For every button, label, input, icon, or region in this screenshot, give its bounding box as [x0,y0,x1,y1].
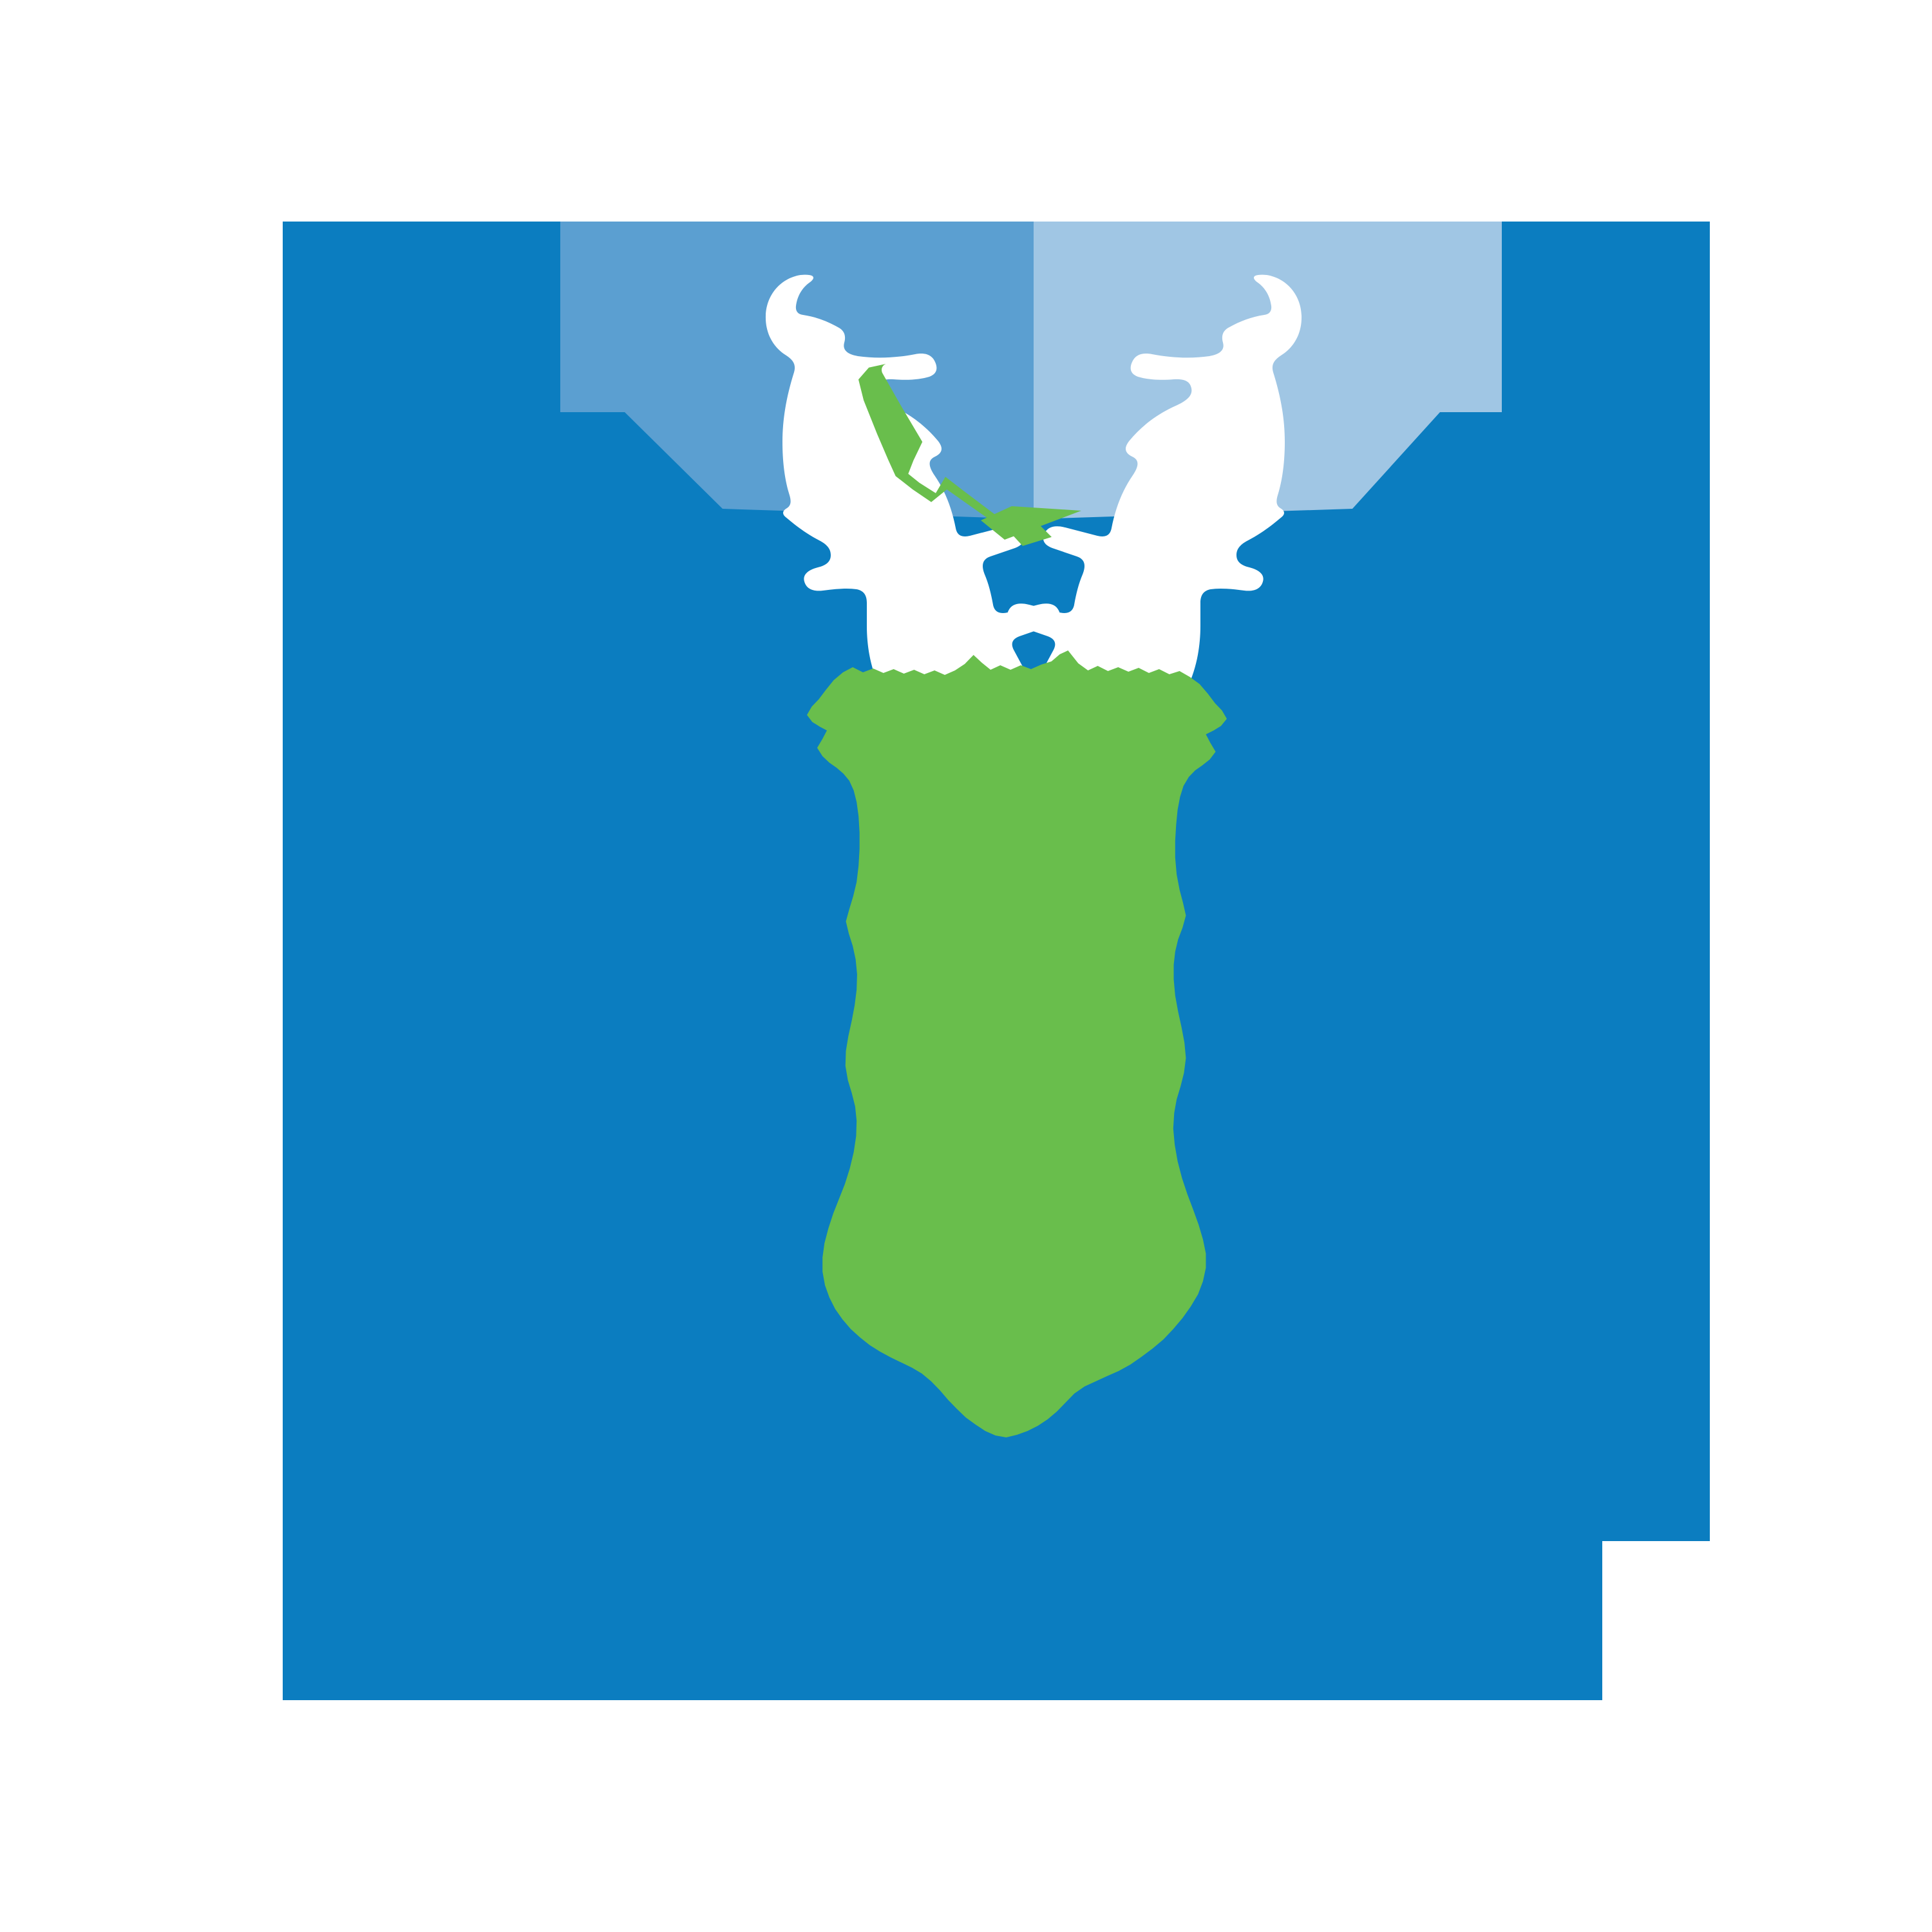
evergreen-tree-final-group [807,650,1227,1437]
canoe-hull-group [560,222,1502,519]
logo-canvas: Canoe and evergreen emblem Blue shield-s… [0,0,1932,1932]
logo-mark: Canoe and evergreen emblem Blue shield-s… [0,0,1932,1932]
evergreen-tree-icon [807,650,1227,1437]
